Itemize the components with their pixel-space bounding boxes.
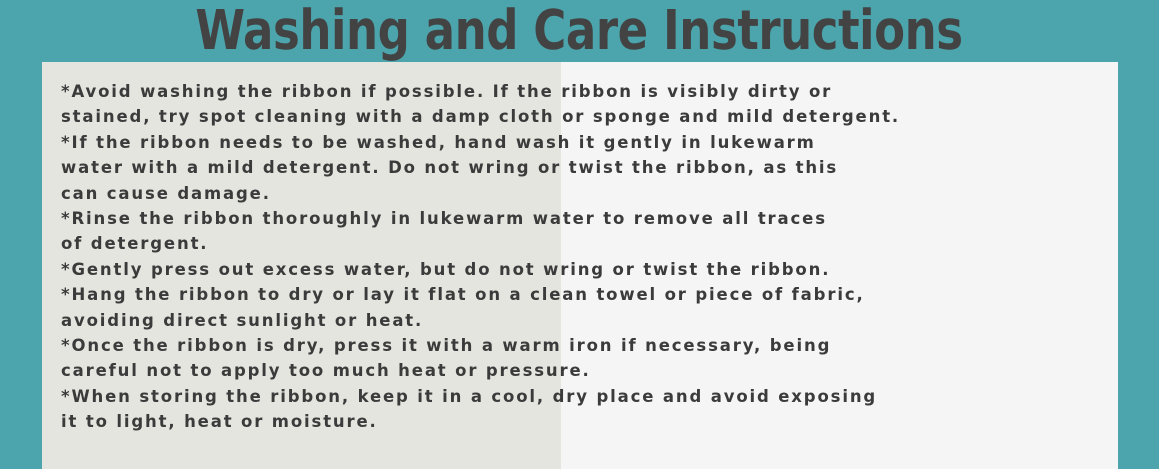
page-title: Washing and Care Instructions (196, 2, 963, 60)
instruction-line: careful not to apply too much heat or pr… (61, 358, 1118, 383)
instruction-line: *When storing the ribbon, keep it in a c… (61, 384, 1118, 409)
instruction-line: stained, try spot cleaning with a damp c… (61, 104, 1118, 129)
instruction-line: can cause damage. (61, 181, 1118, 206)
instruction-line: water with a mild detergent. Do not wrin… (61, 155, 1118, 180)
instruction-line: it to light, heat or moisture. (61, 409, 1118, 434)
instructions-panel: *Avoid washing the ribbon if possible. I… (42, 62, 1118, 469)
instruction-line: of detergent. (61, 231, 1118, 256)
poster-root: Washing and Care Instructions *Avoid was… (0, 0, 1159, 469)
title-bar: Washing and Care Instructions (0, 0, 1159, 62)
instruction-line: *If the ribbon needs to be washed, hand … (61, 130, 1118, 155)
instruction-line: *Rinse the ribbon thoroughly in lukewarm… (61, 206, 1118, 231)
instruction-line: avoiding direct sunlight or heat. (61, 308, 1118, 333)
instruction-line: *Once the ribbon is dry, press it with a… (61, 333, 1118, 358)
instruction-line: *Hang the ribbon to dry or lay it flat o… (61, 282, 1118, 307)
instruction-line: *Gently press out excess water, but do n… (61, 257, 1118, 282)
instructions-list: *Avoid washing the ribbon if possible. I… (42, 62, 1118, 435)
instruction-line: *Avoid washing the ribbon if possible. I… (61, 79, 1118, 104)
